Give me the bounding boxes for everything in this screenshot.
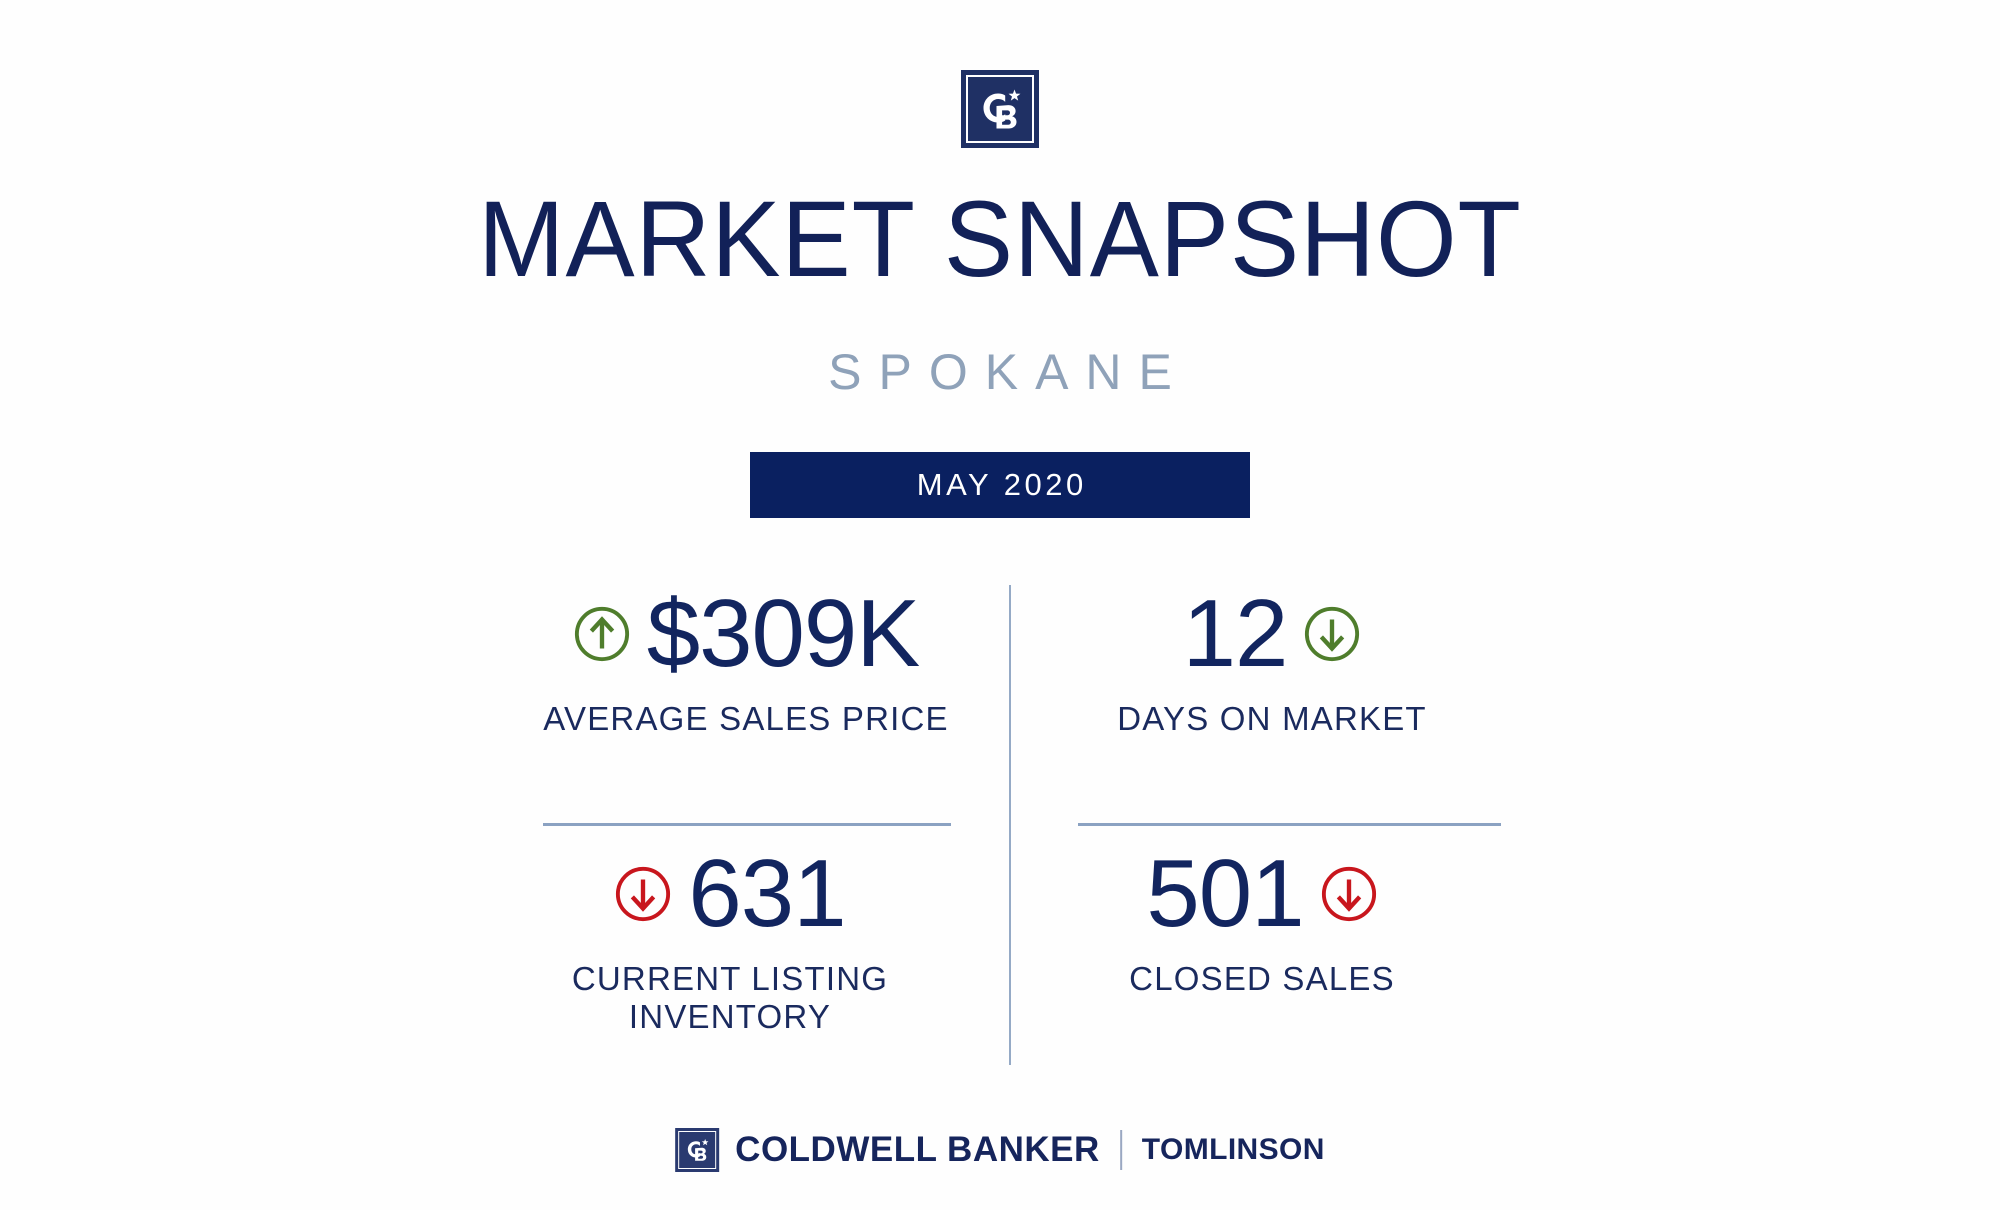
circle-arrow-down-icon [1320,865,1378,923]
vertical-divider [1009,585,1011,1065]
stat-value: 12 [1183,586,1288,682]
stat-value-row: $309K [496,580,996,688]
circle-arrow-down-icon [1303,605,1361,663]
circle-arrow-down-icon [614,865,672,923]
date-banner: MAY 2020 [750,452,1250,518]
stats-grid: $309K AVERAGE SALES PRICE 12 DAYS ON MAR… [0,580,2000,1070]
stat-value: $309K [647,586,920,682]
stat-label: DAYS ON MARKET [1022,700,1522,738]
footer-brand-name: COLDWELL BANKER [735,1130,1100,1170]
market-region-subtitle: SPOKANE [0,347,2000,397]
coldwell-banker-logo-icon [961,70,1039,148]
footer-divider [1120,1130,1122,1170]
circle-arrow-up-icon [573,605,631,663]
footer-logo-inner-border [678,1131,716,1169]
cb-monogram-icon [679,1132,717,1170]
stat-days-on-market: 12 DAYS ON MARKET [1022,580,1522,738]
stat-value: 631 [688,846,845,942]
stat-value-row: 631 [480,840,980,948]
logo-inner-border [966,75,1034,143]
stat-value-row: 501 [1012,840,1512,948]
horizontal-divider-left [543,823,951,826]
stat-closed-sales: 501 CLOSED SALES [1012,840,1512,998]
horizontal-divider-right [1078,823,1501,826]
stat-current-listing-inventory: 631 CURRENT LISTING INVENTORY [480,840,980,1037]
footer-affiliate-name: TOMLINSON [1142,1133,1325,1167]
page-title: MARKET SNAPSHOT [40,185,1960,293]
stat-label: AVERAGE SALES PRICE [496,700,996,738]
stat-value-row: 12 [1022,580,1522,688]
coldwell-banker-footer-logo-icon [675,1128,719,1172]
stat-average-sales-price: $309K AVERAGE SALES PRICE [496,580,996,738]
cb-monogram-icon [968,77,1036,145]
footer-brand-lockup: COLDWELL BANKER TOMLINSON [675,1128,1325,1172]
market-snapshot-infographic: MARKET SNAPSHOT SPOKANE MAY 2020 $309K A… [0,0,2000,1210]
date-label: MAY 2020 [913,467,1086,503]
stat-value: 501 [1146,846,1303,942]
stat-label: CURRENT LISTING INVENTORY [480,960,980,1037]
stat-label: CLOSED SALES [1012,960,1512,998]
